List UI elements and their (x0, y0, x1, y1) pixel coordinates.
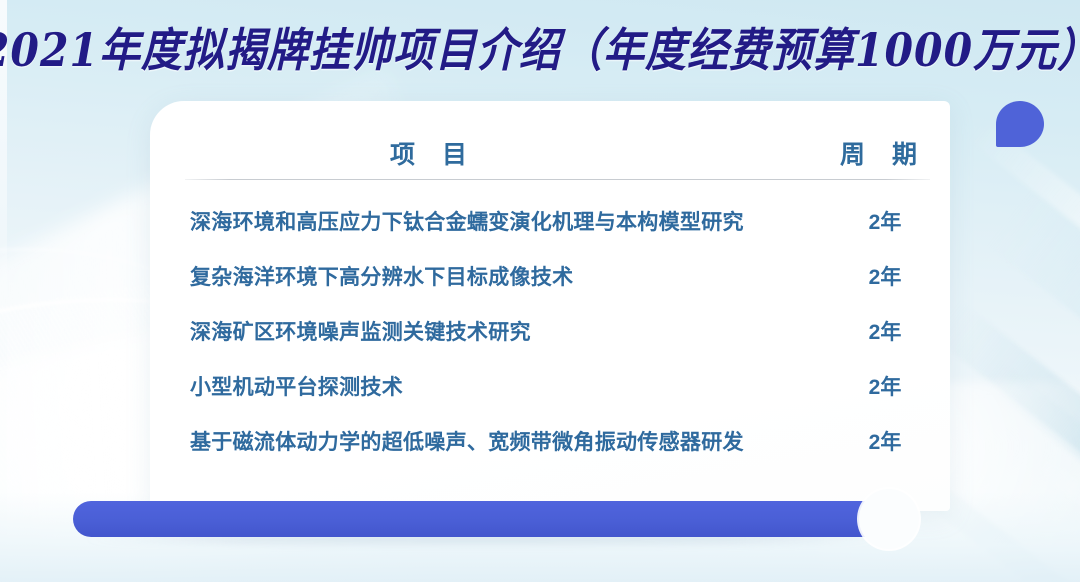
title-banner: 2021年度拟揭牌挂帅项目介绍（年度经费预算1000万元） (0, 0, 1080, 92)
slide-root: 2021年度拟揭牌挂帅项目介绍（年度经费预算1000万元） 项 目 周 期 深海… (0, 0, 1080, 582)
cell-period-value: 2年 (830, 261, 940, 291)
cell-project-name: 基于磁流体动力学的超低噪声、宽频带微角振动传感器研发 (190, 426, 744, 456)
cell-period-value: 2年 (830, 371, 940, 401)
bottom-bar-fill (73, 501, 898, 537)
cell-project-name: 小型机动平台探测技术 (190, 371, 403, 401)
table-row: 深海环境和高压应力下钛合金蠕变演化机理与本构模型研究 2年 (150, 193, 950, 248)
table-row: 小型机动平台探测技术 2年 (150, 358, 950, 413)
cell-project-name: 深海矿区环境噪声监测关键技术研究 (190, 316, 531, 346)
bottom-bar-notch (859, 489, 919, 549)
cell-period-value: 2年 (830, 206, 940, 236)
table-row: 基于磁流体动力学的超低噪声、宽频带微角振动传感器研发 2年 (150, 413, 950, 468)
table-row: 深海矿区环境噪声监测关键技术研究 2年 (150, 303, 950, 358)
table-row: 复杂海洋环境下高分辨水下目标成像技术 2年 (150, 248, 950, 303)
cell-period-value: 2年 (830, 426, 940, 456)
teardrop-icon (996, 101, 1044, 147)
table-body: 深海环境和高压应力下钛合金蠕变演化机理与本构模型研究 2年 复杂海洋环境下高分辨… (150, 193, 950, 468)
cell-project-name: 复杂海洋环境下高分辨水下目标成像技术 (190, 261, 573, 291)
bottom-accent-bar (73, 501, 898, 537)
header-divider (185, 179, 930, 180)
column-header-period: 周 期 (840, 135, 927, 171)
project-table: 项 目 周 期 深海环境和高压应力下钛合金蠕变演化机理与本构模型研究 2年 复杂… (150, 101, 950, 511)
column-header-project: 项 目 (390, 135, 477, 171)
cell-project-name: 深海环境和高压应力下钛合金蠕变演化机理与本构模型研究 (190, 206, 744, 236)
table-header-row: 项 目 周 期 (185, 131, 930, 179)
page-title: 2021年度拟揭牌挂帅项目介绍（年度经费预算1000万元） (0, 12, 1080, 79)
cell-period-value: 2年 (830, 316, 940, 346)
